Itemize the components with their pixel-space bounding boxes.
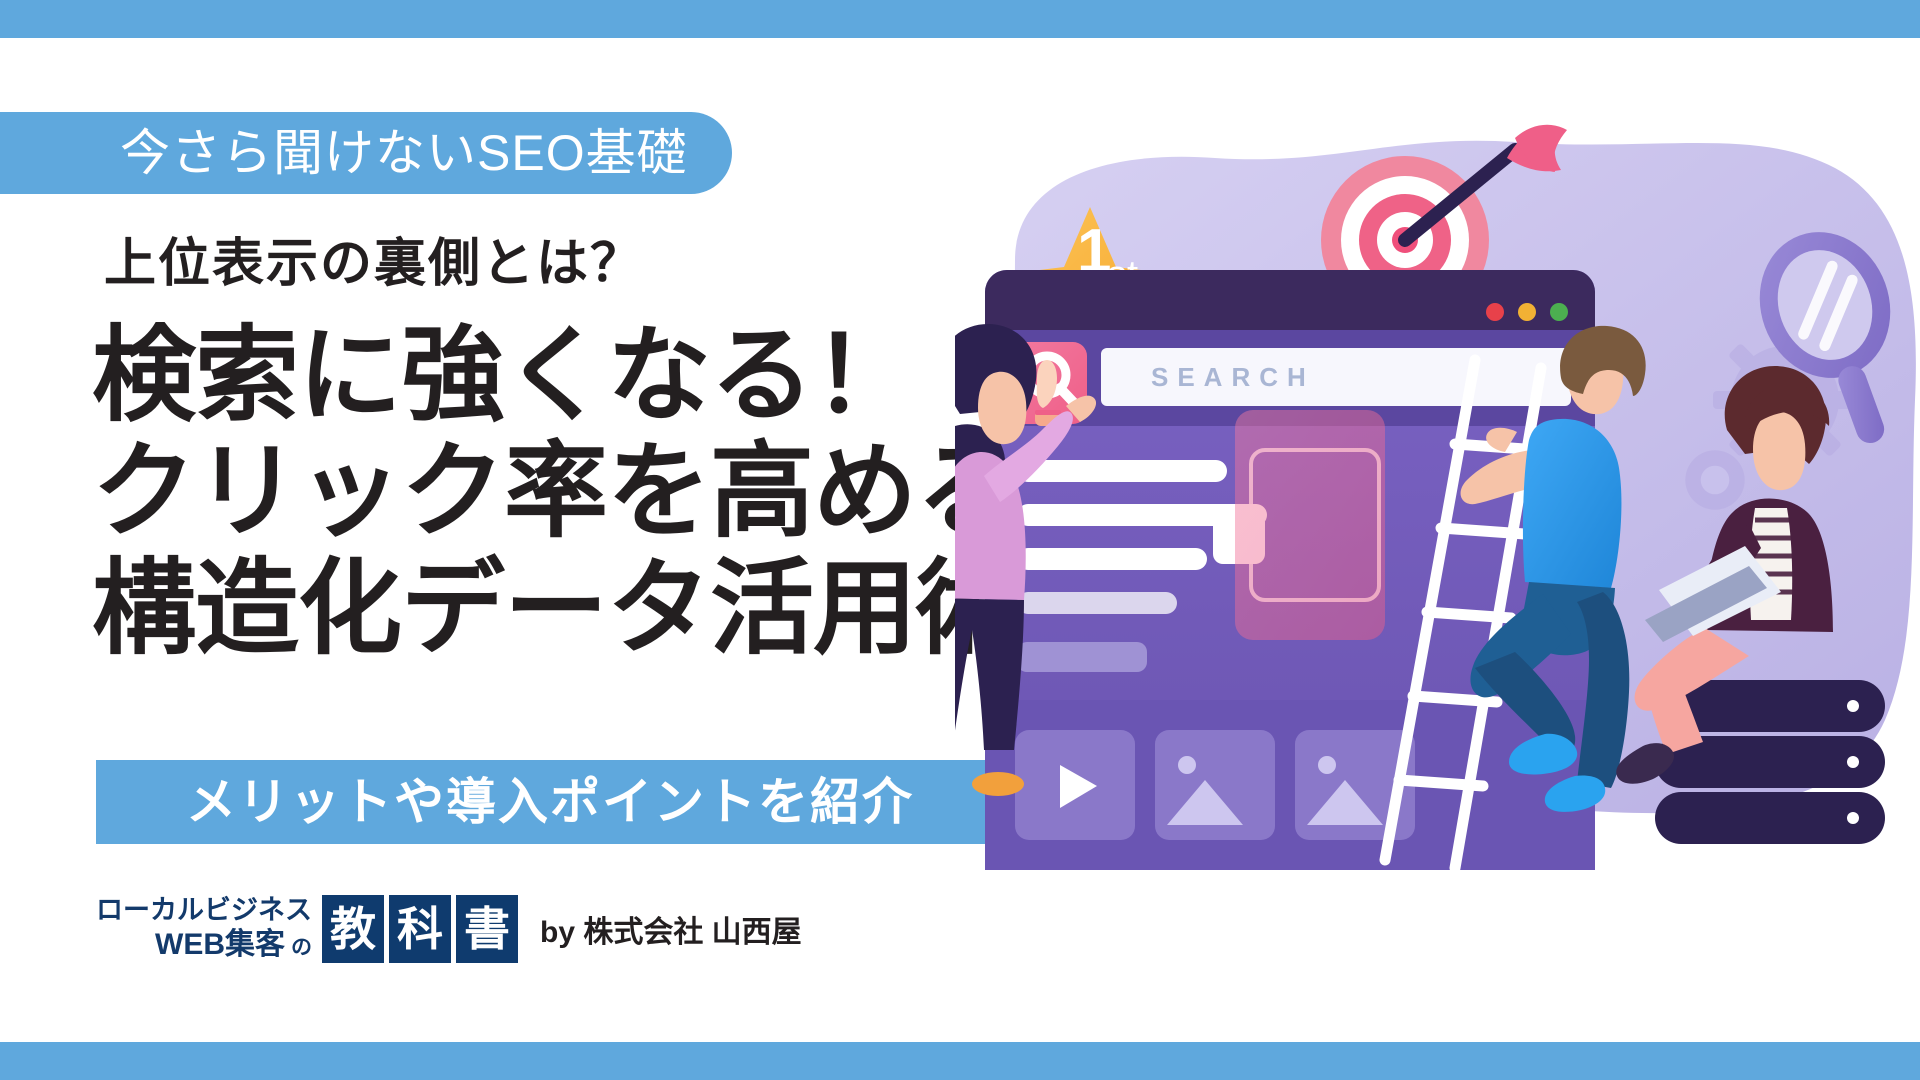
brand-line-1: ローカルビジネス [96,895,312,927]
highlight-card [1235,410,1385,640]
brand-byline: by 株式会社 山西屋 [540,907,802,951]
bottom-accent-band [0,1042,1920,1080]
poster-canvas: 今さら聞けないSEO基礎 上位表示の裏側とは？ 検索に強くなる！ クリック率を高… [0,0,1920,1080]
brand-kanji-boxes: 教 科 書 [322,895,518,963]
image-icon [1155,730,1275,840]
subtitle-ribbon-label: メリットや導入ポイントを紹介 [186,777,914,827]
window-dot-minimize [1518,303,1536,321]
brand-particle: の [291,936,312,961]
kanji-box-3: 書 [456,895,518,963]
kicker-ribbon: 今さら聞けないSEO基礎 [0,112,732,194]
brand-line-2-main: WEB集客 [155,927,285,962]
subhead-text: 上位表示の裏側とは？ [104,238,644,290]
play-icon [1015,730,1135,840]
subtitle-ribbon: メリットや導入ポイントを紹介 [96,760,1004,844]
brand-wordmark: ローカルビジネス WEB集客 の [96,895,312,962]
browser-search-label: SEARCH [1151,362,1315,392]
server-stack-icon [1655,680,1885,844]
seo-illustration: 1 st [955,120,1920,940]
kanji-box-2: 科 [389,895,451,963]
kanji-box-1: 教 [322,895,384,963]
brand-line-2: WEB集客 の [155,927,312,962]
top-accent-band [0,0,1920,38]
brand-logo: ローカルビジネス WEB集客 の 教 科 書 by 株式会社 山西屋 [96,895,802,963]
kicker-label: 今さら聞けないSEO基礎 [120,128,688,178]
window-dot-maximize [1550,303,1568,321]
window-dot-close [1486,303,1504,321]
